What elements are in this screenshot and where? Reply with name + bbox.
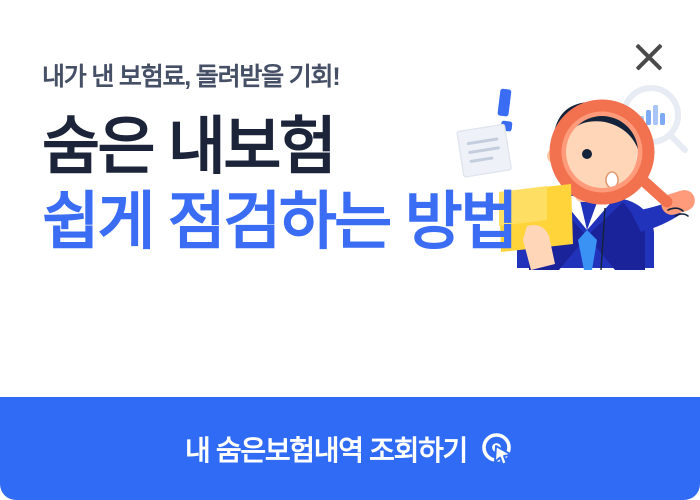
cta-button[interactable]: 내 숨은보험내역 조회하기	[0, 397, 700, 500]
cta-button-label: 내 숨은보험내역 조회하기	[185, 429, 467, 469]
banner-headline-line1: 숨은 내보험	[42, 114, 516, 181]
click-target-icon	[481, 432, 515, 466]
close-icon[interactable]	[626, 34, 672, 80]
banner-text-block: 내가 낸 보험료, 돌려받을 기회! 숨은 내보험 쉽게 점검하는 방법	[42, 62, 516, 256]
banner-headline-line2: 쉽게 점검하는 방법	[42, 189, 516, 256]
promo-banner: 내가 낸 보험료, 돌려받을 기회! 숨은 내보험 쉽게 점검하는 방법 내 숨…	[0, 0, 700, 500]
businessman-figure	[499, 98, 697, 270]
banner-subtitle: 내가 낸 보험료, 돌려받을 기회!	[42, 62, 516, 92]
